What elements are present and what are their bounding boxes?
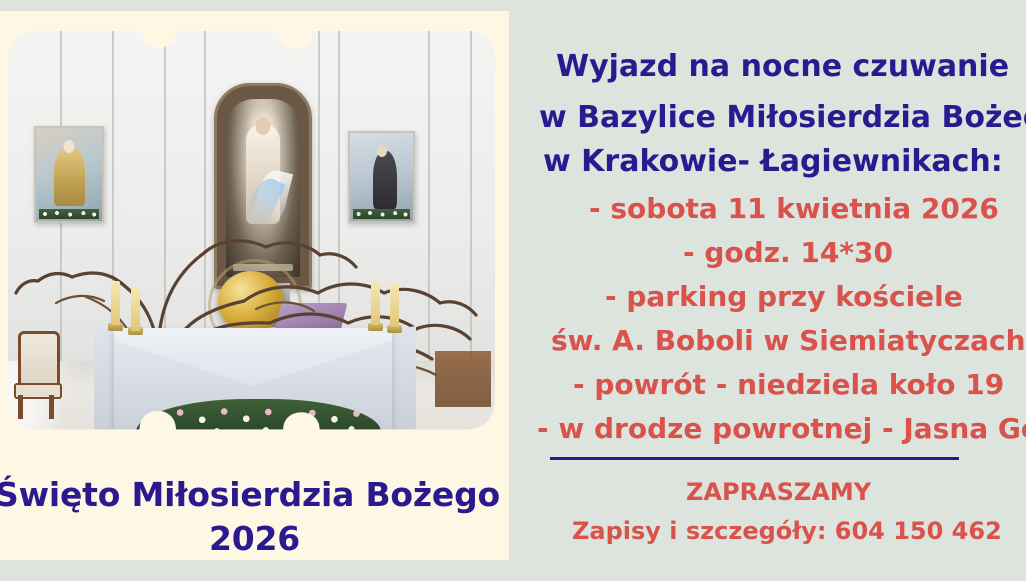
detail-line-4: św. A. Boboli w Siemiatyczach xyxy=(551,327,1026,355)
heading-line-2: w Bazylice Miłosierdzia Bożeg xyxy=(539,103,1026,133)
wooden-pew xyxy=(435,351,491,407)
altar-candle xyxy=(371,281,380,325)
left-panel: Święto Miłosierdzia Bożego 2026 xyxy=(0,11,509,560)
faustina-head xyxy=(377,145,387,157)
footer-line-2: Zapisy i szczegóły: 604 150 462 xyxy=(572,519,1002,543)
altar-candle xyxy=(390,283,399,327)
detail-line-6: - w drodze powrotnej - Jasna Gó xyxy=(537,415,1026,443)
chair-back xyxy=(18,331,60,389)
jp2-head xyxy=(64,140,75,153)
altar-candle xyxy=(111,281,120,325)
altar-drape xyxy=(114,328,392,386)
sanctuary-chair xyxy=(14,331,58,419)
chair-leg xyxy=(49,395,54,419)
footer-line-1: ZAPRASZAMY xyxy=(686,480,871,504)
chair-leg xyxy=(18,395,23,419)
left-caption-line-2: 2026 xyxy=(209,519,300,558)
detail-line-5: - powrót - niedziela koło 19 xyxy=(573,371,1004,399)
section-divider xyxy=(550,457,959,460)
church-photo-image xyxy=(8,31,495,446)
detail-line-2: - godz. 14*30 xyxy=(683,239,893,267)
church-photo xyxy=(8,31,495,446)
altar-right-wing xyxy=(390,326,416,436)
poster-root: Święto Miłosierdzia Bożego 2026 Wyjazd n… xyxy=(0,0,1026,581)
detail-line-1: - sobota 11 kwietnia 2026 xyxy=(589,195,999,223)
jesus-head xyxy=(256,117,271,135)
heading-line-1: Wyjazd na nocne czuwanie xyxy=(556,52,1009,82)
altar-candle xyxy=(131,287,140,331)
left-caption-line-1: Święto Miłosierdzia Bożego xyxy=(0,473,509,517)
left-caption: Święto Miłosierdzia Bożego 2026 xyxy=(0,473,509,560)
right-panel: Wyjazd na nocne czuwanie w Bazylice Miło… xyxy=(509,0,1026,581)
detail-line-3: - parking przy kościele xyxy=(605,283,963,311)
heading-line-3: w Krakowie- Łagiewnikach: xyxy=(543,147,1003,177)
